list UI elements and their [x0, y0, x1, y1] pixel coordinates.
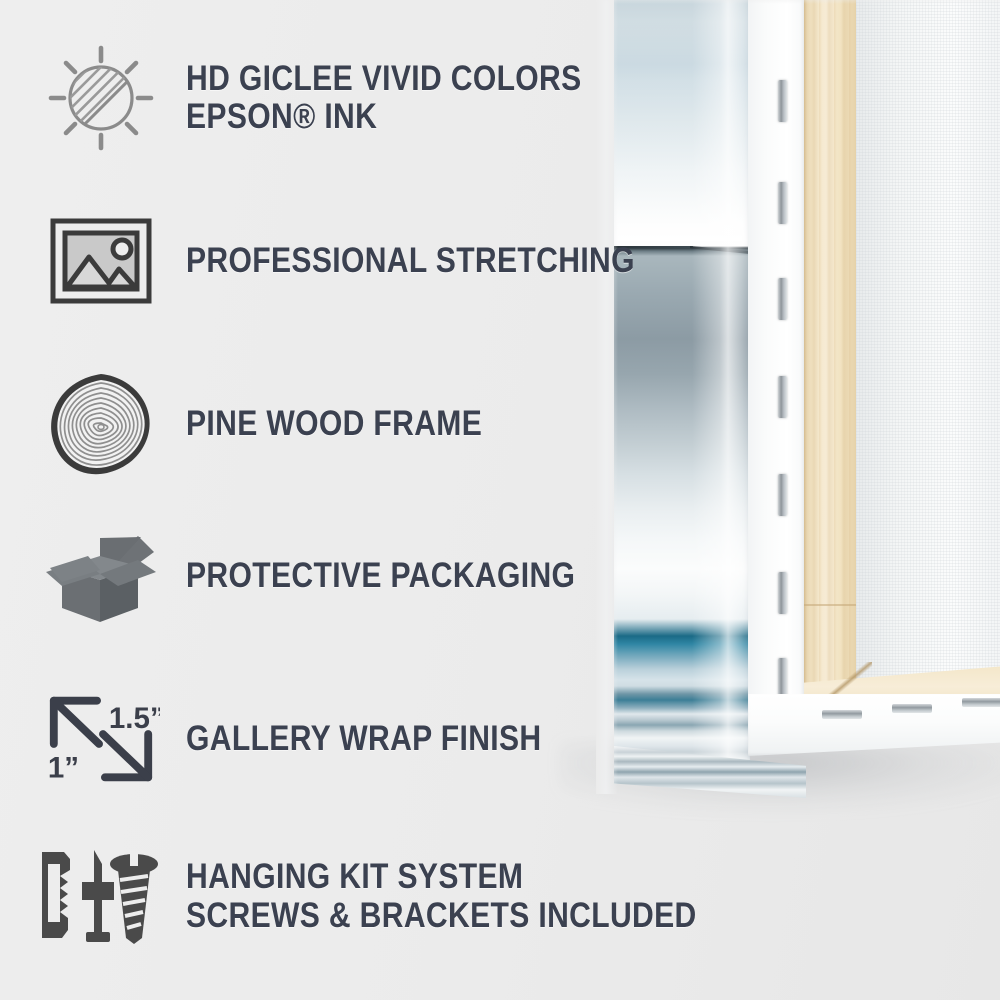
feature-item-pine-frame: PINE WOOD FRAME — [42, 368, 530, 480]
open-box-icon — [42, 520, 160, 632]
feature-label-line1: PINE WOOD FRAME — [186, 404, 482, 443]
feature-label-line1: PROTECTIVE PACKAGING — [186, 556, 575, 595]
feature-label: PINE WOOD FRAME — [186, 405, 482, 443]
feature-label: PROTECTIVE PACKAGING — [186, 557, 575, 595]
wrap-depth-label-top: 1.5” — [109, 702, 160, 735]
feature-item-hd-giclee: HD GICLEE VIVID COLORS EPSON® INK — [42, 42, 646, 154]
canvas-back-texture — [856, 0, 1000, 738]
staple — [778, 278, 787, 320]
staple — [778, 572, 787, 614]
staple — [778, 658, 787, 700]
feature-label-line1: HD GICLEE VIVID COLORS — [186, 59, 582, 98]
staple — [778, 80, 787, 122]
feature-label: HD GICLEE VIVID COLORS EPSON® INK — [186, 60, 582, 136]
feature-label-line1: HANGING KIT SYSTEM — [186, 857, 523, 896]
feature-item-hanging-kit: HANGING KIT SYSTEM SCREWS & BRACKETS INC… — [30, 840, 780, 952]
feature-label: HANGING KIT SYSTEM SCREWS & BRACKETS INC… — [186, 857, 697, 935]
infographic-canvas: HD GICLEE VIVID COLORS EPSON® INK PROFES… — [0, 0, 1000, 1000]
pine-stretcher-bar-vertical — [804, 0, 856, 742]
wrap-depth-label-bottom: 1” — [48, 751, 79, 784]
staple — [822, 710, 862, 719]
wood-rings-icon — [42, 368, 160, 480]
framed-picture-icon — [42, 205, 160, 317]
feature-item-stretching: PROFESSIONAL STRETCHING — [42, 205, 708, 317]
feature-list: HD GICLEE VIVID COLORS EPSON® INK PROFES… — [0, 0, 690, 1000]
feature-label: PROFESSIONAL STRETCHING — [186, 242, 635, 280]
feature-label-line1: GALLERY WRAP FINISH — [186, 719, 542, 758]
feature-item-gallery-wrap: 1.5” 1” GALLERY WRAP FINISH — [42, 683, 599, 795]
staple — [778, 376, 787, 418]
pine-bar-seam — [804, 604, 856, 606]
canvas-wrap-white-face — [748, 0, 804, 746]
feature-label-line1: PROFESSIONAL STRETCHING — [186, 241, 635, 280]
staple — [778, 182, 787, 224]
feature-label-line2: SCREWS & BRACKETS INCLUDED — [186, 896, 697, 935]
staple — [962, 698, 1000, 707]
staple — [778, 474, 787, 516]
sun-icon — [42, 42, 160, 154]
staple — [892, 704, 932, 713]
wrap-depth-arrows-icon: 1.5” 1” — [42, 683, 160, 795]
feature-item-packaging: PROTECTIVE PACKAGING — [42, 520, 639, 632]
feature-label-line2: EPSON® INK — [186, 98, 582, 136]
feature-label: GALLERY WRAP FINISH — [186, 720, 542, 758]
hanging-hardware-icon — [30, 840, 160, 952]
